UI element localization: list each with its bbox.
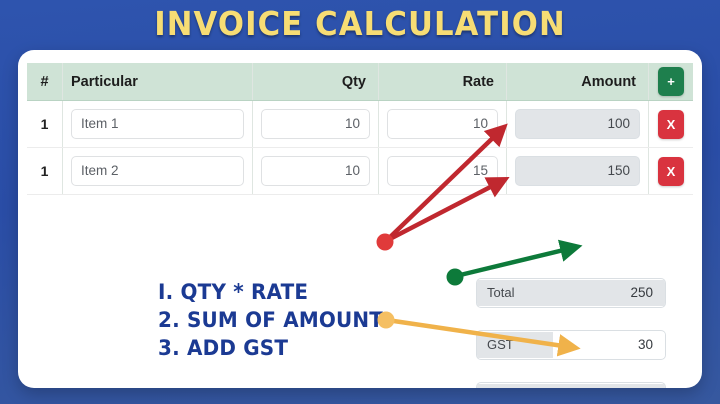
amount-field: 150 bbox=[515, 156, 640, 186]
invoice-card: # Particular Qty Rate Amount + bbox=[18, 50, 702, 388]
summary-row-net-amount: Net Amt 280 bbox=[476, 382, 666, 388]
particular-input[interactable]: Item 1 bbox=[71, 109, 244, 139]
row-actions-cell: X bbox=[649, 101, 693, 147]
add-row-button[interactable]: + bbox=[658, 67, 684, 96]
table-row: 1 Item 2 10 15 150 X bbox=[27, 148, 693, 195]
header-label-number: # bbox=[27, 74, 62, 90]
row-number-cell: 1 bbox=[27, 101, 63, 147]
row-qty-cell: 10 bbox=[253, 101, 379, 147]
delete-row-button[interactable]: X bbox=[658, 110, 684, 139]
amount-field: 100 bbox=[515, 109, 640, 139]
summary-row-gst[interactable]: GST 30 bbox=[476, 330, 666, 360]
net-amount-label: Net Amt bbox=[477, 384, 553, 388]
rate-input[interactable]: 10 bbox=[387, 109, 498, 139]
row-rate-cell: 10 bbox=[379, 101, 507, 147]
step-1-label: I. QTY * RATE bbox=[158, 278, 405, 306]
header-label-qty: Qty bbox=[261, 74, 370, 90]
qty-input[interactable]: 10 bbox=[261, 109, 370, 139]
step-2-label: 2. SUM OF AMOUNT bbox=[158, 306, 405, 334]
header-cell-number: # bbox=[27, 63, 63, 100]
row-particular-cell: Item 2 bbox=[63, 148, 253, 194]
header-cell-amount: Amount bbox=[507, 63, 649, 100]
row-particular-cell: Item 1 bbox=[63, 101, 253, 147]
row-number-cell: 1 bbox=[27, 148, 63, 194]
row-number: 1 bbox=[41, 163, 49, 179]
row-rate-cell: 15 bbox=[379, 148, 507, 194]
particular-input[interactable]: Item 2 bbox=[71, 156, 244, 186]
row-number: 1 bbox=[41, 116, 49, 132]
step-3-label: 3. ADD GST bbox=[158, 334, 405, 362]
header-label-rate: Rate bbox=[387, 74, 498, 90]
rate-input[interactable]: 15 bbox=[387, 156, 498, 186]
delete-row-button[interactable]: X bbox=[658, 157, 684, 186]
row-actions-cell: X bbox=[649, 148, 693, 194]
header-cell-qty: Qty bbox=[253, 63, 379, 100]
total-label: Total bbox=[477, 280, 553, 306]
net-amount-value: 280 bbox=[553, 384, 665, 388]
qty-input[interactable]: 10 bbox=[261, 156, 370, 186]
gst-input[interactable]: 30 bbox=[553, 332, 665, 358]
row-amount-cell: 100 bbox=[507, 101, 649, 147]
page-title: INVOICE CALCULATION bbox=[25, 2, 695, 46]
invoice-table: # Particular Qty Rate Amount + bbox=[27, 63, 693, 195]
header-cell-particular: Particular bbox=[63, 63, 253, 100]
header-label-amount: Amount bbox=[515, 74, 640, 90]
table-row: 1 Item 1 10 10 100 X bbox=[27, 101, 693, 148]
header-cell-actions: + bbox=[649, 63, 693, 100]
header-cell-rate: Rate bbox=[379, 63, 507, 100]
table-header-row: # Particular Qty Rate Amount + bbox=[27, 63, 693, 101]
total-value: 250 bbox=[553, 280, 665, 306]
header-label-particular: Particular bbox=[71, 74, 244, 90]
summary-row-total: Total 250 bbox=[476, 278, 666, 308]
row-amount-cell: 150 bbox=[507, 148, 649, 194]
row-qty-cell: 10 bbox=[253, 148, 379, 194]
summary-panel: Total 250 GST 30 Net Amt 280 bbox=[476, 278, 666, 388]
gst-label: GST bbox=[477, 332, 553, 358]
steps-annotation: I. QTY * RATE 2. SUM OF AMOUNT 3. ADD GS… bbox=[158, 278, 418, 362]
screenshot-root: INVOICE CALCULATION # Particular Qty Rat… bbox=[0, 0, 720, 404]
